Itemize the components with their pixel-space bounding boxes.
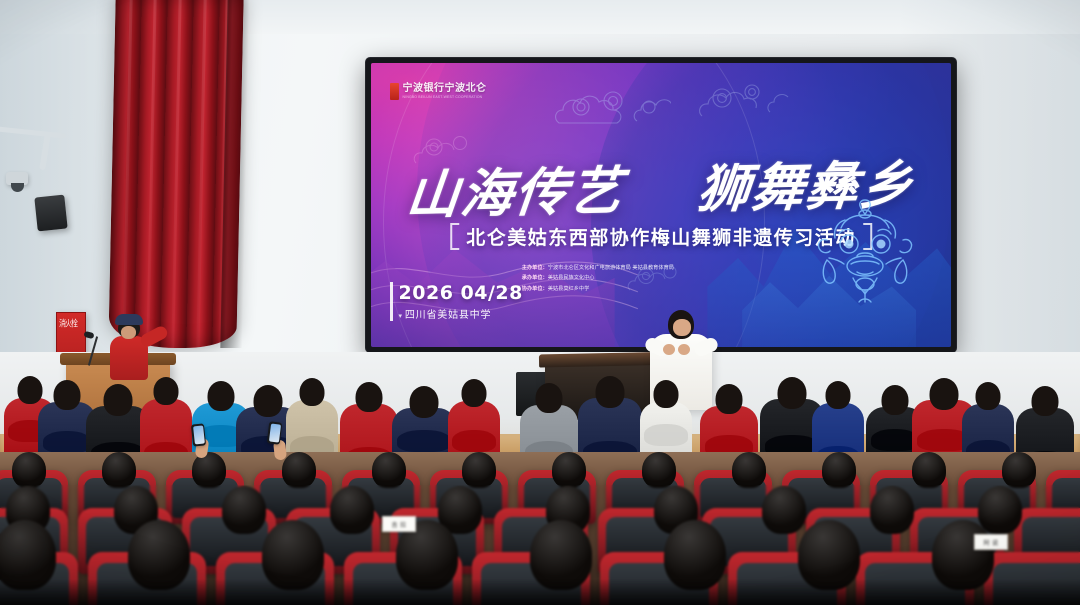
hair-highlight bbox=[0, 520, 56, 590]
student-head bbox=[356, 382, 383, 412]
audience-head bbox=[530, 520, 592, 590]
student-head bbox=[930, 378, 959, 410]
student-head bbox=[410, 386, 439, 418]
student-head bbox=[54, 380, 81, 410]
jacket-hood bbox=[644, 424, 688, 446]
auspicious-cloud-icon bbox=[696, 72, 816, 130]
student-head bbox=[976, 382, 1001, 410]
hair-highlight bbox=[664, 520, 726, 590]
hair-highlight bbox=[12, 452, 46, 488]
smartphone-icon bbox=[267, 421, 283, 444]
organizer-line: 主办单位：宁波市北仑区文化和广电旅游体育局 美姑县教育体育局 bbox=[522, 263, 674, 273]
organizer-line: 承办单位：美姑县民族文化中心 bbox=[522, 273, 674, 283]
student-head bbox=[654, 380, 679, 408]
audience-head bbox=[192, 452, 226, 488]
auspicious-cloud-icon bbox=[551, 77, 671, 137]
audience-head bbox=[372, 452, 406, 488]
hair-highlight bbox=[192, 452, 226, 488]
audience-head bbox=[262, 520, 324, 590]
security-camera-icon bbox=[6, 172, 28, 185]
student-head bbox=[300, 378, 325, 406]
hair-highlight bbox=[552, 452, 586, 488]
red-stage-curtain bbox=[108, 0, 243, 348]
audience-head bbox=[642, 452, 676, 488]
audience-head bbox=[462, 452, 496, 488]
student-head bbox=[716, 384, 743, 414]
auditorium-seat bbox=[984, 552, 1080, 605]
hair-highlight bbox=[222, 486, 266, 534]
hair-highlight bbox=[1002, 452, 1036, 488]
logo-text-cn: 宁波银行宁波北仑 bbox=[403, 84, 487, 94]
hair-highlight bbox=[102, 452, 136, 488]
wall-speaker-icon bbox=[34, 195, 67, 232]
hair-highlight bbox=[822, 452, 856, 488]
hair-highlight bbox=[732, 452, 766, 488]
student-head bbox=[154, 377, 179, 405]
date-venue-block: 2026 04/28 ▾四川省美姑县中学 bbox=[390, 282, 523, 321]
audience-head bbox=[1002, 452, 1036, 488]
student-head bbox=[596, 376, 625, 408]
hair-highlight bbox=[462, 452, 496, 488]
smartphone-icon bbox=[191, 423, 206, 446]
audience-head bbox=[978, 486, 1022, 534]
audience-head bbox=[798, 520, 860, 590]
fire-cabinet-label: 消火栓 bbox=[59, 318, 77, 331]
sponsor-logo: 宁波银行宁波北仑 NINGBO BEILUN EAST-WEST COOPERA… bbox=[390, 83, 487, 100]
audience-head bbox=[664, 520, 726, 590]
hair-highlight bbox=[530, 520, 592, 590]
student-head bbox=[1032, 386, 1059, 416]
hair-highlight bbox=[262, 520, 324, 590]
audience-head bbox=[932, 520, 994, 590]
logo-text-en: NINGBO BEILUN EAST-WEST COOPERATION bbox=[403, 96, 487, 99]
banner-title-left: 山海传艺 bbox=[404, 161, 627, 227]
audience-head bbox=[222, 486, 266, 534]
audience-head bbox=[0, 520, 56, 590]
audience-head bbox=[732, 452, 766, 488]
audience-head bbox=[12, 452, 46, 488]
audience-head bbox=[128, 520, 190, 590]
jacket-hood bbox=[452, 430, 496, 452]
audience-head bbox=[330, 486, 374, 534]
hair-highlight bbox=[798, 520, 860, 590]
bracket-left-icon bbox=[450, 223, 459, 250]
name-placard: 阿 说 bbox=[974, 534, 1008, 550]
lion-dance-head-icon bbox=[805, 194, 925, 306]
led-display-frame: 宁波银行宁波北仑 NINGBO BEILUN EAST-WEST COOPERA… bbox=[366, 58, 956, 352]
audience-head bbox=[552, 452, 586, 488]
location-pin-icon: ▾ bbox=[399, 312, 403, 320]
audience-head bbox=[102, 452, 136, 488]
hair-highlight bbox=[870, 486, 914, 534]
student-head bbox=[208, 381, 235, 411]
led-display-content: 宁波银行宁波北仑 NINGBO BEILUN EAST-WEST COOPERA… bbox=[371, 63, 951, 347]
hair-highlight bbox=[912, 452, 946, 488]
hair-highlight bbox=[932, 520, 994, 590]
student-head bbox=[536, 383, 563, 413]
hair-highlight bbox=[372, 452, 406, 488]
audience-head bbox=[822, 452, 856, 488]
name-placard: 吉 拉 bbox=[382, 516, 416, 532]
hair-highlight bbox=[282, 452, 316, 488]
audience-head bbox=[762, 486, 806, 534]
hair-highlight bbox=[762, 486, 806, 534]
student-head bbox=[462, 379, 487, 407]
event-venue: ▾四川省美姑县中学 bbox=[399, 306, 523, 321]
banner-subtitle: 北仑美姑东西部协作梅山舞狮非遗传习活动 bbox=[466, 223, 856, 250]
student-head bbox=[104, 384, 133, 416]
hair-highlight bbox=[978, 486, 1022, 534]
logo-mark-icon bbox=[390, 83, 399, 100]
hair-highlight bbox=[128, 520, 190, 590]
baseball-cap-icon bbox=[115, 314, 143, 325]
auditorium-photo: 消火栓 bbox=[0, 0, 1080, 605]
audience-head bbox=[282, 452, 316, 488]
student-head bbox=[826, 381, 851, 409]
jacket-hood bbox=[397, 430, 451, 452]
student-head bbox=[778, 377, 807, 409]
organizer-list: 主办单位：宁波市北仑区文化和广电旅游体育局 美姑县教育体育局 承办单位：美姑县民… bbox=[522, 263, 674, 293]
audience-head bbox=[870, 486, 914, 534]
hair-highlight bbox=[330, 486, 374, 534]
student-head bbox=[882, 385, 909, 415]
audience-head bbox=[912, 452, 946, 488]
event-date: 2026 04/28 bbox=[399, 282, 523, 304]
student-head bbox=[254, 385, 283, 417]
hair-highlight bbox=[642, 452, 676, 488]
organizer-line: 协办单位：美姑县莫红乡中学 bbox=[522, 284, 674, 294]
jacket-hood bbox=[43, 431, 92, 453]
